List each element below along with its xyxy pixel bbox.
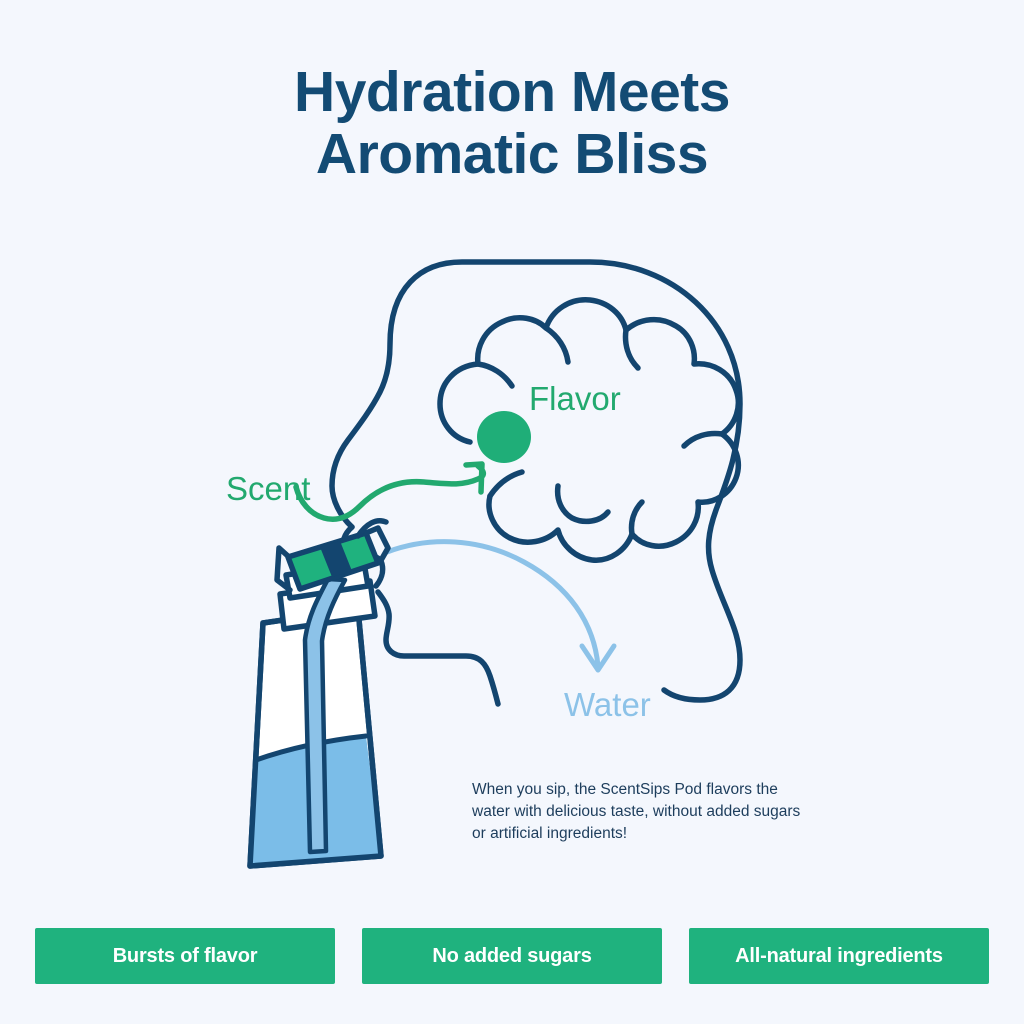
brain-fold-mid-right-icon: [684, 434, 722, 447]
label-water: Water: [564, 686, 651, 724]
scent-arrow-icon: [296, 466, 483, 519]
brain-fold-lower-icon: [490, 472, 522, 496]
badge-bursts-of-flavor[interactable]: Bursts of flavor: [35, 928, 335, 984]
badge-no-added-sugars[interactable]: No added sugars: [362, 928, 662, 984]
label-flavor: Flavor: [529, 380, 621, 418]
label-scent: Scent: [226, 470, 310, 508]
badge-all-natural-ingredients[interactable]: All-natural ingredients: [689, 928, 989, 984]
brain-fold-upper-icon: [546, 328, 568, 362]
description-paragraph: When you sip, the ScentSips Pod flavors …: [472, 779, 812, 845]
flavor-dot-icon: [477, 411, 531, 463]
brain-fold-right-icon: [626, 330, 639, 368]
water-arrow-icon: [387, 542, 598, 666]
brain-fold-bottom-right-icon: [631, 502, 642, 534]
infographic-page: Hydration Meets Aromatic Bliss: [0, 0, 1024, 1024]
jaw-profile-icon: [378, 592, 498, 704]
feature-badge-row: Bursts of flavor No added sugars All-nat…: [0, 928, 1024, 984]
brain-fold-left-icon: [478, 364, 512, 386]
illustration-canvas: [0, 0, 1024, 1024]
brain-fold-bottom-icon: [558, 486, 608, 521]
